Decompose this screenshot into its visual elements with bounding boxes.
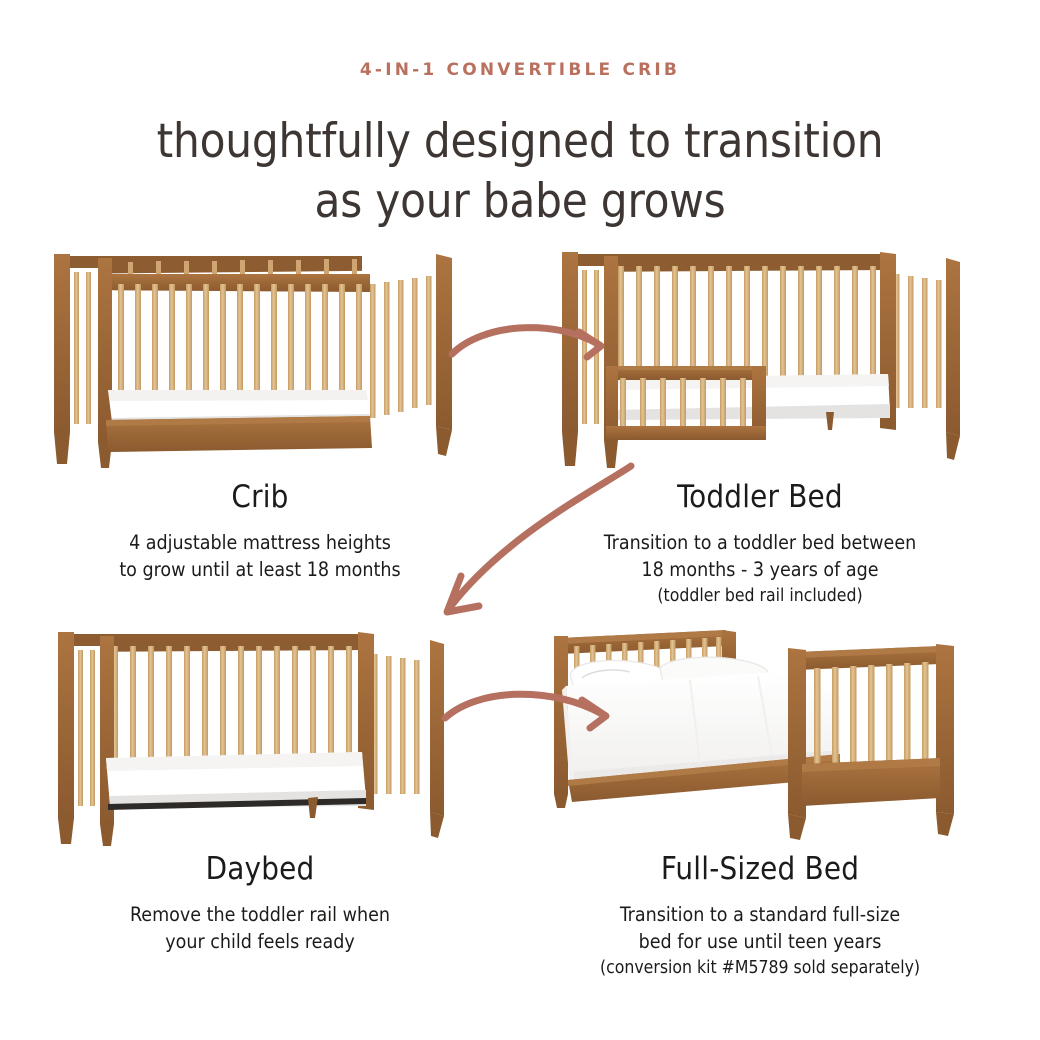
toddler-bed-note: (toddler bed rail included)	[540, 584, 980, 609]
toddler-bed-title: Toddler Bed	[540, 480, 980, 516]
stage-daybed: Daybed Remove the toddler rail when your…	[40, 612, 480, 956]
toddler-bed-illustration	[540, 240, 980, 480]
daybed-illustration	[40, 612, 480, 852]
crib-illustration	[40, 240, 480, 480]
full-sized-bed-illustration	[540, 612, 980, 852]
full-sized-bed-desc-line-2: bed for use until teen years	[540, 928, 980, 956]
full-sized-bed-caption: Full-Sized Bed Transition to a standard …	[540, 852, 980, 981]
page-title: thoughtfully designed to transition as y…	[0, 112, 1040, 232]
infographic-page: 4-IN-1 CONVERTIBLE CRIB thoughtfully des…	[0, 0, 1040, 1040]
daybed-desc-line-2: your child feels ready	[40, 928, 480, 956]
crib-desc-line-2: to grow until at least 18 months	[40, 556, 480, 584]
stage-crib: Crib 4 adjustable mattress heights to gr…	[40, 240, 480, 584]
crib-desc-line-1: 4 adjustable mattress heights	[40, 529, 480, 557]
full-sized-bed-title: Full-Sized Bed	[540, 852, 980, 888]
toddler-bed-caption: Toddler Bed Transition to a toddler bed …	[540, 480, 980, 609]
toddler-bed-desc-line-2: 18 months - 3 years of age	[540, 556, 980, 584]
eyebrow-label: 4-IN-1 CONVERTIBLE CRIB	[0, 60, 1040, 80]
daybed-title: Daybed	[40, 852, 480, 888]
stage-toddler-bed: Toddler Bed Transition to a toddler bed …	[540, 240, 980, 609]
daybed-desc-line-1: Remove the toddler rail when	[40, 901, 480, 929]
stage-full-sized-bed: Full-Sized Bed Transition to a standard …	[540, 612, 980, 981]
full-sized-bed-desc-line-1: Transition to a standard full-size	[540, 901, 980, 929]
daybed-caption: Daybed Remove the toddler rail when your…	[40, 852, 480, 956]
crib-title: Crib	[40, 480, 480, 516]
toddler-bed-desc-line-1: Transition to a toddler bed between	[540, 529, 980, 557]
crib-caption: Crib 4 adjustable mattress heights to gr…	[40, 480, 480, 584]
headline-line-2: as your babe grows	[0, 172, 1040, 232]
full-sized-bed-note: (conversion kit #M5789 sold separately)	[540, 956, 980, 981]
headline-line-1: thoughtfully designed to transition	[157, 114, 884, 169]
